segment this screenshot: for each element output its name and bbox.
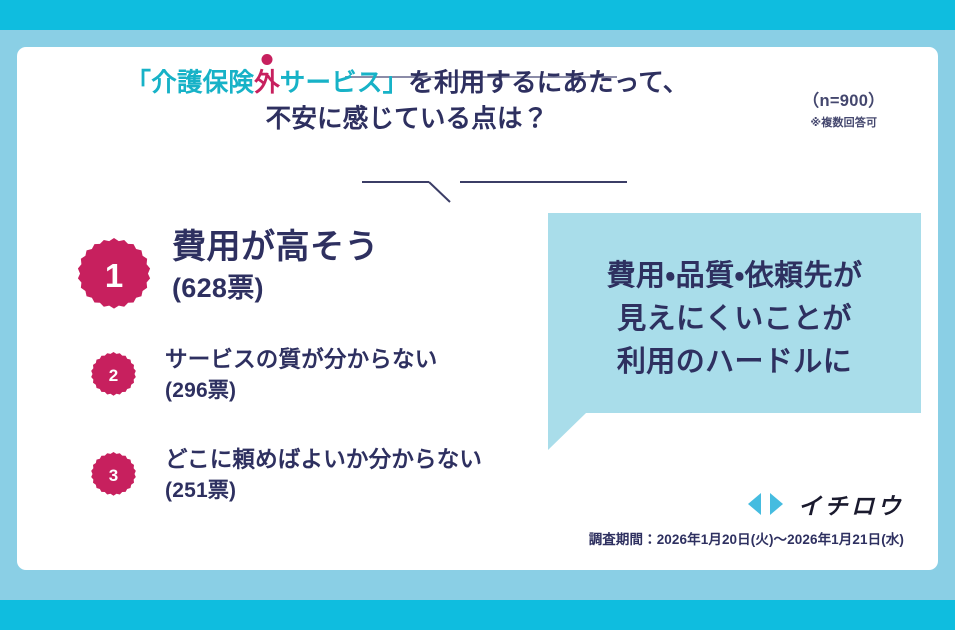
rank-votes-3: (251票) xyxy=(165,477,482,505)
survey-meta: （n=900） ※複数回答可 xyxy=(803,87,885,130)
sample-size-label: （n=900） xyxy=(803,87,885,111)
title-segment-teal-1: 「介護保険 xyxy=(126,69,255,97)
rank-badge-3: 3 xyxy=(90,452,137,499)
callout-text: 費用・品質・依頼先が 見えにくいことが 利用のハードルに xyxy=(548,255,921,384)
title-segment-navy: を利用するにあたって、 xyxy=(408,69,688,97)
poster-background: 「介護保険外サービス」を利用するにあたって、 不安に感じている点は？ （n=90… xyxy=(0,0,955,630)
ranking-item-2: 2 サービスの質が分からない (296票) xyxy=(62,351,582,451)
title-segment-teal-2: サービス」 xyxy=(280,69,409,97)
survey-period-label: 調査期間：2026年1月20日(火)～2026年1月21日(水) xyxy=(589,528,904,548)
title-segment-emphasis: 外 xyxy=(254,69,280,97)
rank-votes-1: (628票) xyxy=(172,271,379,306)
callout-line-1: 費用・品質・依頼先が xyxy=(548,255,921,298)
rank-label-3: どこに頼めばよいか分からない xyxy=(165,445,482,474)
title-line-1: 「介護保険外サービス」を利用するにあたって、 xyxy=(107,65,707,101)
ranking-item-3: 3 どこに頼めばよいか分からない (251票) xyxy=(62,451,582,546)
rank-label-2: サービスの質が分からない xyxy=(165,345,437,374)
callout-line-3: 利用のハードルに xyxy=(548,341,921,384)
chevron-right-icon xyxy=(770,493,783,515)
summary-callout: 費用・品質・依頼先が 見えにくいことが 利用のハードルに xyxy=(548,213,921,413)
rank-text-1: 費用が高そう (628票) xyxy=(172,226,379,306)
ranking-item-1: 1 費用が高そう (628票) xyxy=(62,234,582,351)
multiple-answers-note: ※複数回答可 xyxy=(803,114,885,130)
emphasis-dot-icon xyxy=(261,54,272,65)
callout-line-2: 見えにくいことが xyxy=(548,298,921,341)
brand-logo: イチロウ xyxy=(589,487,904,521)
rank-badge-2: 2 xyxy=(90,352,137,399)
content-card: 「介護保険外サービス」を利用するにあたって、 不安に感じている点は？ （n=90… xyxy=(17,47,938,570)
decorative-rule-bottom xyxy=(362,177,627,203)
rank-label-1: 費用が高そう xyxy=(172,226,379,269)
rank-votes-2: (296票) xyxy=(165,377,437,405)
ranking-list: 1 費用が高そう (628票) 2 サービスの質が分からない (296票) 3 … xyxy=(62,234,582,546)
brand-name: イチロウ xyxy=(798,487,904,521)
chevron-left-icon xyxy=(748,493,761,515)
page-title: 「介護保険外サービス」を利用するにあたって、 不安に感じている点は？ xyxy=(107,65,707,137)
title-line-2: 不安に感じている点は？ xyxy=(107,101,707,137)
rank-text-3: どこに頼めばよいか分からない (251票) xyxy=(165,445,482,506)
footer: イチロウ 調査期間：2026年1月20日(火)～2026年1月21日(水) xyxy=(589,487,904,548)
title-emphasis-text: 外 xyxy=(254,69,280,97)
rank-badge-1: 1 xyxy=(76,238,152,314)
rank-text-2: サービスの質が分からない (296票) xyxy=(165,345,437,406)
